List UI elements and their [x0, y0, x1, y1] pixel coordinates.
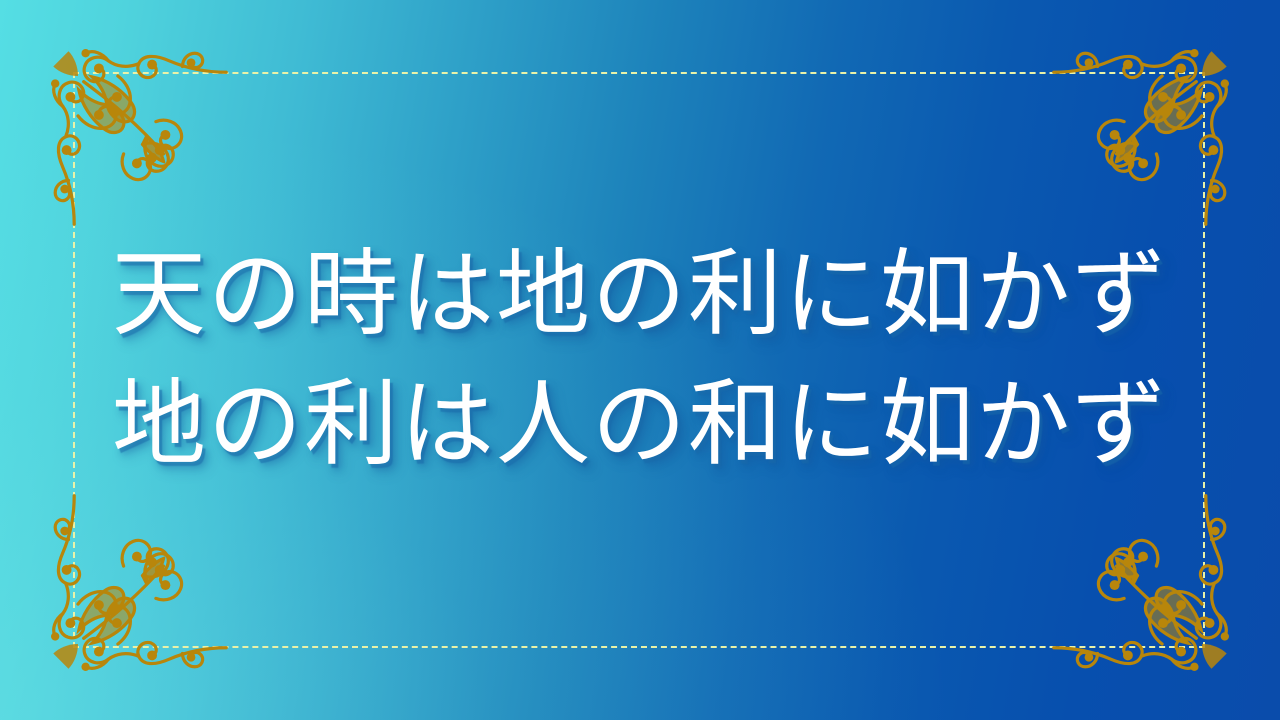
quote-slide: 天の時は地の利に如かず 地の利は人の和に如かず	[0, 0, 1280, 720]
quote-line-2: 地の利は人の和に如かず	[112, 363, 1168, 487]
quote-text-block: 天の時は地の利に如かず 地の利は人の和に如かず	[0, 0, 1280, 720]
quote-line-1: 天の時は地の利に如かず	[112, 233, 1168, 357]
